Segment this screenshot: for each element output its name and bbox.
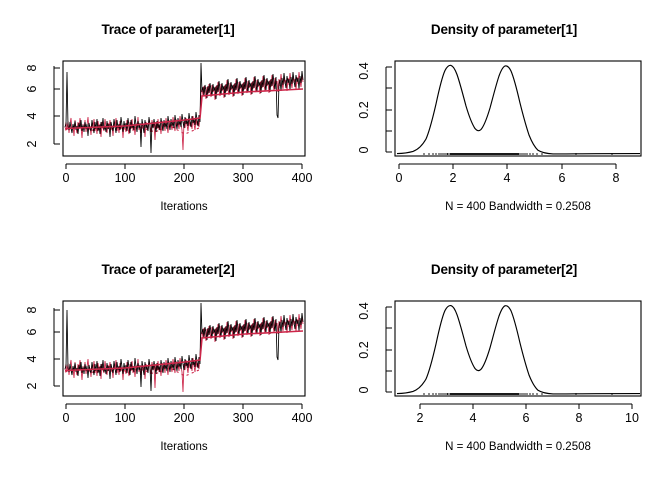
panel-trace-parameter-2: Trace of parameter[2] 2 4 6 8 <box>0 240 336 480</box>
x-tick-label: 4 <box>504 171 511 185</box>
y-tick-label: 0.2 <box>357 101 371 118</box>
panel-density-parameter-1: Density of parameter[1] 0 0.2 0.4 <box>336 0 672 240</box>
x-axis-tick-labels: 0 100 200 300 400 <box>63 411 313 425</box>
y-tick-label: 0.4 <box>357 62 371 79</box>
x-axis-tick-labels: 0 2 4 6 8 <box>396 171 620 185</box>
x-tick-label: 300 <box>233 171 254 185</box>
density-1-plot: 0 0.2 0.4 <box>336 0 672 240</box>
plot-frame <box>63 301 305 396</box>
density-curve <box>397 306 640 394</box>
trace-2-plot: 2 4 6 8 <box>0 240 336 480</box>
panel-trace-parameter-1: Trace of parameter[1] 2 4 6 8 <box>0 0 336 240</box>
y-axis-tick-labels: 0 0.2 0.4 <box>357 62 371 153</box>
y-tick-label: 6 <box>25 85 39 92</box>
x-tick-label: 6 <box>559 171 566 185</box>
y-tick-label: 8 <box>25 64 39 71</box>
x-tick-label: 400 <box>292 171 313 185</box>
density-caption: N = 400 Bandwidth = 0.2508 <box>445 201 591 213</box>
y-tick-label: 6 <box>25 328 39 335</box>
density-caption: N = 400 Bandwidth = 0.2508 <box>445 441 591 453</box>
y-tick-label: 4 <box>25 355 39 362</box>
density-curve <box>397 65 640 154</box>
x-tick-label: 8 <box>576 411 583 425</box>
trace-chain2-line <box>65 314 303 392</box>
density-2-plot: 0 0.2 0.4 <box>336 240 672 480</box>
y-axis-tick-labels: 2 4 6 8 <box>25 64 39 147</box>
trace-chain2-line <box>65 72 303 150</box>
plot-frame <box>395 301 641 396</box>
x-tick-label: 0 <box>63 411 70 425</box>
x-tick-label: 2 <box>450 171 457 185</box>
x-axis-tick-labels: 0 100 200 300 400 <box>63 171 313 185</box>
x-axis <box>66 404 302 409</box>
x-axis-label: Iterations <box>160 201 208 213</box>
y-tick-label: 2 <box>25 140 39 147</box>
y-axis-tick-labels: 2 4 6 8 <box>25 306 39 389</box>
y-tick-label: 2 <box>25 382 39 389</box>
y-axis-tick-labels: 0 0.2 0.4 <box>357 302 371 393</box>
x-tick-label: 2 <box>417 411 424 425</box>
x-axis <box>399 164 616 169</box>
x-axis <box>420 404 632 409</box>
plot-frame <box>395 61 641 156</box>
y-axis <box>386 307 392 392</box>
x-tick-label: 200 <box>174 411 195 425</box>
trace-chain1-line <box>65 63 303 153</box>
x-tick-label: 300 <box>233 411 254 425</box>
y-tick-label: 0.4 <box>357 302 371 319</box>
figure-canvas: Trace of parameter[1] 2 4 6 8 <box>0 0 672 480</box>
trace-1-plot: 2 4 6 8 <box>0 0 336 240</box>
x-tick-label: 10 <box>625 411 639 425</box>
y-tick-label: 4 <box>25 112 39 119</box>
plot-frame <box>63 61 305 156</box>
y-axis <box>54 66 60 144</box>
x-axis-label: Iterations <box>160 441 208 453</box>
y-tick-label: 0.2 <box>357 341 371 358</box>
x-tick-label: 200 <box>174 171 195 185</box>
y-axis <box>386 67 392 152</box>
x-axis-tick-labels: 2 4 6 8 10 <box>417 411 639 425</box>
panel-density-parameter-2: Density of parameter[2] 0 0.2 0.4 <box>336 240 672 480</box>
x-tick-label: 6 <box>523 411 530 425</box>
x-tick-label: 0 <box>396 171 403 185</box>
y-axis <box>54 308 60 386</box>
x-tick-label: 0 <box>63 171 70 185</box>
y-tick-label: 0 <box>357 146 371 153</box>
y-tick-label: 0 <box>357 386 371 393</box>
x-axis <box>66 164 302 169</box>
y-tick-label: 8 <box>25 306 39 313</box>
x-tick-label: 100 <box>115 411 136 425</box>
x-tick-label: 8 <box>613 171 620 185</box>
x-tick-label: 400 <box>292 411 313 425</box>
x-tick-label: 100 <box>115 171 136 185</box>
x-tick-label: 4 <box>470 411 477 425</box>
